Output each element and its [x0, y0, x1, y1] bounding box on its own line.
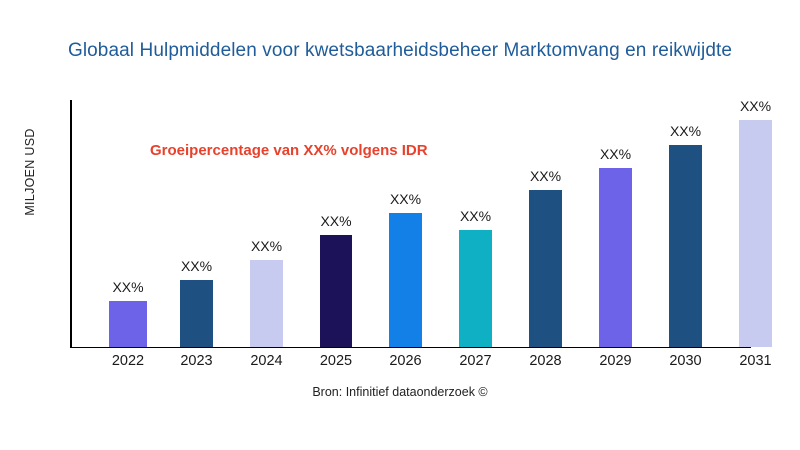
- x-axis-line: [70, 347, 751, 349]
- bar-value-label: XX%: [306, 213, 366, 229]
- bar-value-label: XX%: [656, 123, 716, 139]
- x-axis-tick-label: 2030: [656, 353, 716, 369]
- bar-value-label: XX%: [237, 238, 297, 254]
- bar: [599, 168, 632, 347]
- bar: [529, 190, 562, 347]
- bar-value-label: XX%: [446, 208, 506, 224]
- bar: [250, 260, 283, 347]
- bar-value-label: XX%: [98, 279, 158, 295]
- x-axis-tick-label: 2023: [167, 353, 227, 369]
- source-note: Bron: Infinitief dataonderzoek ©: [0, 385, 800, 399]
- bar: [180, 280, 213, 347]
- bar: [320, 235, 352, 347]
- plot-area: XX%2022XX%2023XX%2024XX%2025XX%2026XX%20…: [0, 0, 800, 450]
- bar: [739, 120, 772, 347]
- bar: [389, 213, 422, 347]
- x-axis-tick-label: 2024: [237, 353, 297, 369]
- bar-value-label: XX%: [376, 191, 436, 207]
- bar: [669, 145, 702, 347]
- bar-value-label: XX%: [516, 168, 576, 184]
- bar-chart: Globaal Hulpmiddelen voor kwetsbaarheids…: [0, 0, 800, 450]
- bar-value-label: XX%: [586, 146, 646, 162]
- bar-value-label: XX%: [726, 98, 786, 114]
- bar: [459, 230, 492, 347]
- bar: [109, 301, 147, 347]
- x-axis-tick-label: 2022: [98, 353, 158, 369]
- x-axis-tick-label: 2029: [586, 353, 646, 369]
- x-axis-tick-label: 2028: [516, 353, 576, 369]
- x-axis-tick-label: 2027: [446, 353, 506, 369]
- x-axis-tick-label: 2025: [306, 353, 366, 369]
- bar-value-label: XX%: [167, 258, 227, 274]
- x-axis-tick-label: 2026: [376, 353, 436, 369]
- y-axis-line: [70, 100, 72, 348]
- x-axis-tick-label: 2031: [726, 353, 786, 369]
